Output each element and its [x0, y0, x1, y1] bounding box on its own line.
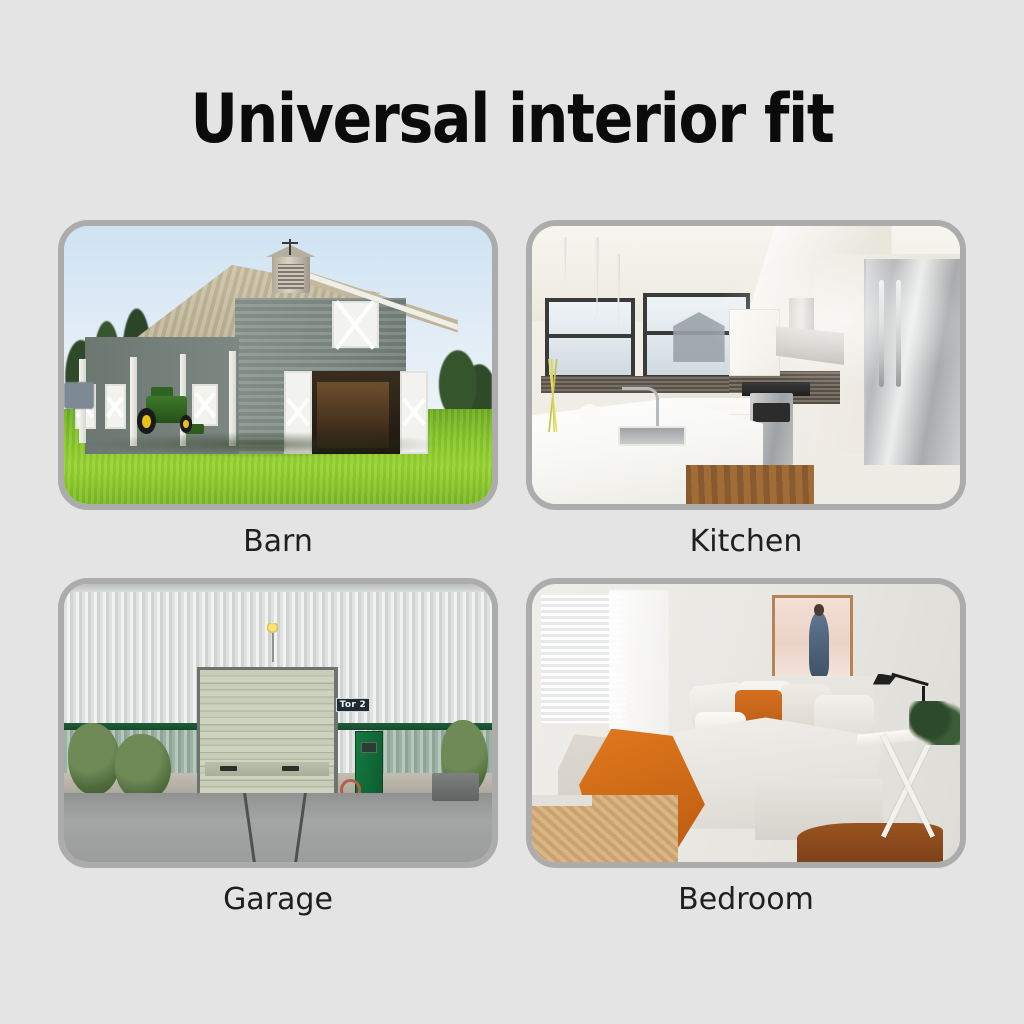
image-grid: Barn — [58, 220, 966, 920]
barn-ground-shadow — [90, 432, 441, 457]
image-card-bedroom[interactable] — [526, 578, 966, 868]
side-table-x-legs — [868, 740, 948, 831]
desk-lamp-arm — [891, 673, 929, 686]
kitchen-wood-floor — [686, 465, 814, 504]
bedroom-potted-plant — [909, 701, 960, 745]
image-card-garage[interactable]: Tor 2 — [58, 578, 498, 868]
garage-bush-left-2 — [115, 734, 171, 801]
caption-bedroom: Bedroom — [678, 880, 814, 920]
grid-cell-barn: Barn — [58, 220, 498, 562]
image-card-barn[interactable] — [58, 220, 498, 510]
kitchen-sink — [618, 426, 686, 445]
photo-kitchen — [532, 226, 960, 504]
barn-weathervane-icon — [289, 239, 291, 256]
tractor-front-wheel — [180, 415, 193, 433]
caption-garage: Garage — [223, 880, 333, 920]
grid-cell-kitchen: Kitchen — [526, 220, 966, 562]
kitchen-refrigerator — [864, 259, 960, 465]
kitchen-upper-cabinet — [729, 309, 780, 376]
garage-wall-lamp-icon — [267, 623, 277, 634]
bedroom-baseboard — [532, 795, 592, 806]
bedroom-side-table — [857, 729, 960, 846]
garage-roof-edge — [64, 584, 492, 592]
image-card-kitchen[interactable] — [526, 220, 966, 510]
grid-cell-bedroom: Bedroom — [526, 578, 966, 920]
garage-rollup-door — [200, 670, 334, 802]
page-title: Universal interior fit — [72, 80, 953, 159]
garage-door-handle-left — [220, 766, 237, 770]
garage-door-handle-right — [282, 766, 299, 770]
barn-tractor — [135, 387, 199, 434]
barn-cupola — [272, 254, 311, 293]
photo-bedroom — [532, 584, 960, 862]
barn-parked-vehicle — [64, 382, 94, 410]
caption-kitchen: Kitchen — [690, 522, 803, 562]
kitchen-plant-stems — [536, 359, 570, 431]
barn-x-window-loft — [332, 301, 379, 348]
photo-garage: Tor 2 — [64, 584, 492, 862]
garage-concrete-apron — [64, 793, 492, 863]
tractor-rear-wheel — [137, 408, 156, 434]
grid-cell-garage: Tor 2 Garage — [58, 578, 498, 920]
caption-barn: Barn — [243, 522, 313, 562]
photo-barn — [64, 226, 492, 504]
garage-bush-left-1 — [68, 723, 119, 795]
bedroom-sheer-curtain — [609, 590, 669, 751]
barn-x-panel-far-2 — [105, 384, 126, 428]
garage-dumpster — [432, 773, 479, 801]
poster-root: Universal interior fit — [0, 0, 1024, 1024]
artwork-figure — [809, 613, 829, 677]
garage-door-number-sign: Tor 2 — [336, 698, 370, 712]
